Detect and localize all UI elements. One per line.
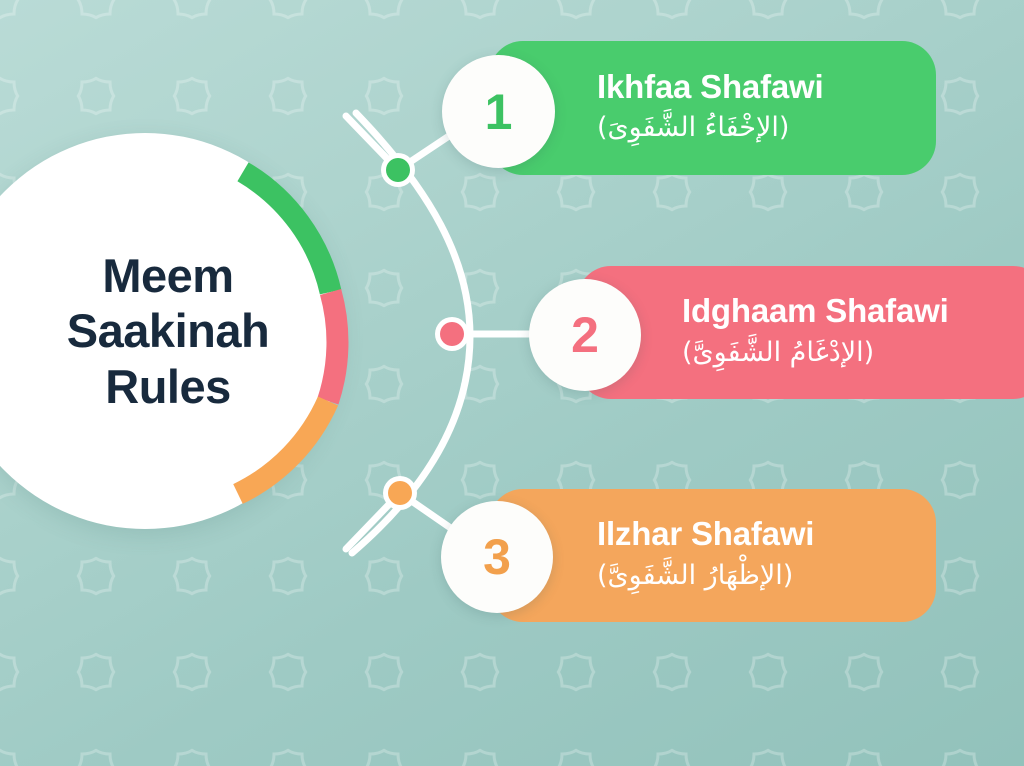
- rule-number-badge-3[interactable]: 3: [441, 501, 553, 613]
- rule-number-badge-2[interactable]: 2: [529, 279, 641, 391]
- rule-arabic-name-2: (الإدْغَامُ الشَّفَوِىَّ): [682, 333, 1024, 372]
- rule-label-idghaam-shafawi[interactable]: Idghaam Shafawi (الإدْغَامُ الشَّفَوِىَّ…: [577, 266, 1024, 399]
- hub-title-line-2: Saakinah: [67, 303, 269, 358]
- node-dot-2: [440, 322, 464, 346]
- rule-label-ilzhar-shafawi[interactable]: Ilzhar Shafawi (الإظْهَارُ الشَّفَوِىَّ): [489, 489, 936, 622]
- rule-number-2: 2: [571, 306, 599, 364]
- rule-latin-name-1: Ikhfaa Shafawi: [597, 69, 936, 105]
- infographic-canvas: Meem Saakinah Rules Ikhfaa Shafawi (الإخ…: [0, 0, 1024, 766]
- hub-title-line-1: Meem: [102, 248, 233, 303]
- hub-title-line-3: Rules: [105, 359, 231, 414]
- rule-latin-name-2: Idghaam Shafawi: [682, 293, 1024, 329]
- rule-arabic-name-1: (الإخْفَاءُ الشَّفَوِىَ): [597, 108, 936, 147]
- rule-label-ikhfaa-shafawi[interactable]: Ikhfaa Shafawi (الإخْفَاءُ الشَّفَوِىَ): [489, 41, 936, 175]
- rule-arabic-name-3: (الإظْهَارُ الشَّفَوِىَّ): [597, 556, 936, 595]
- node-dot-1: [386, 158, 410, 182]
- rule-latin-name-3: Ilzhar Shafawi: [597, 516, 936, 552]
- rule-number-3: 3: [483, 528, 511, 586]
- rule-number-badge-1[interactable]: 1: [442, 55, 555, 168]
- hub-title: Meem Saakinah Rules: [0, 133, 343, 529]
- node-dot-3: [388, 481, 412, 505]
- rule-number-1: 1: [485, 83, 513, 141]
